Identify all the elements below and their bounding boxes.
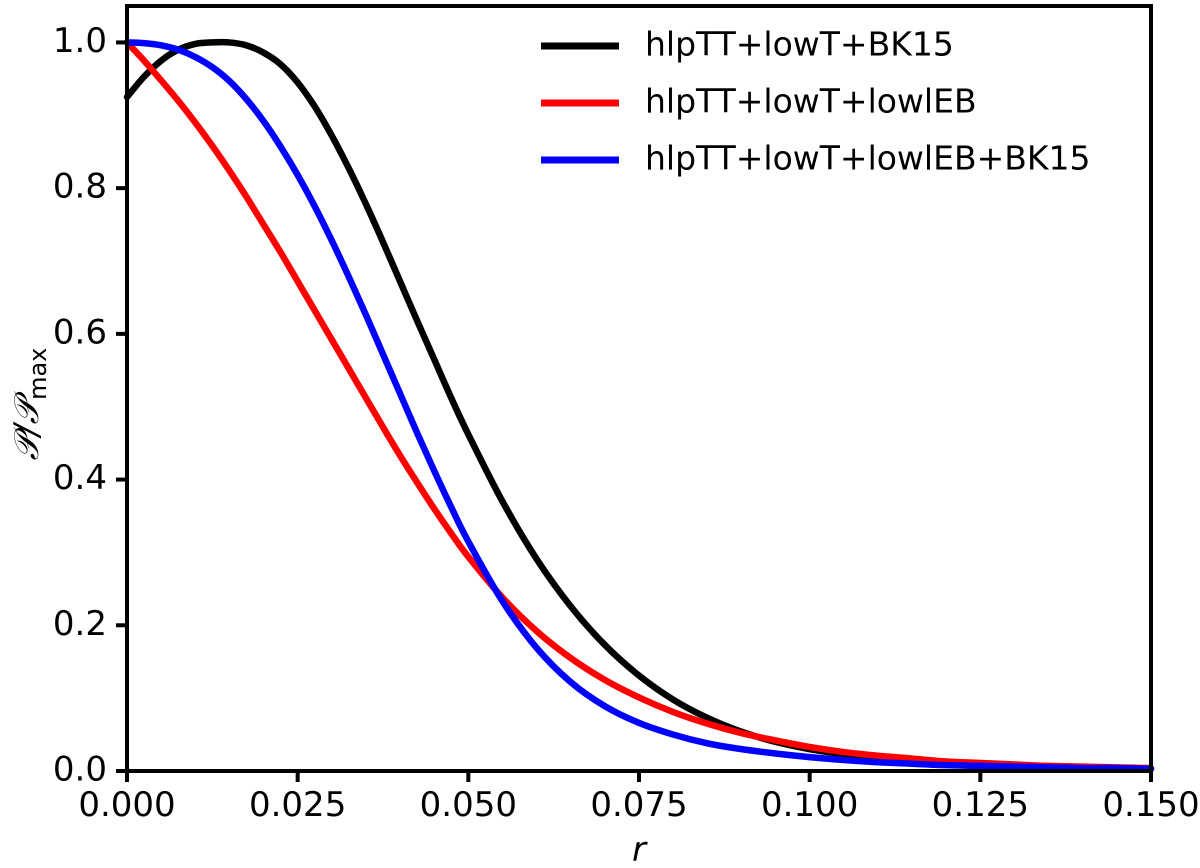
x-tick-label-0: 0.000 <box>78 785 175 825</box>
x-axis-title: r <box>632 830 648 868</box>
x-axis-tick-labels: 0.0000.0250.0500.0750.1000.1250.150 <box>78 785 1199 825</box>
y-axis-title: 𝒫/𝒫max <box>7 348 52 461</box>
x-tick-label-4: 0.100 <box>761 785 858 825</box>
x-tick-label-2: 0.050 <box>420 785 517 825</box>
chart-plot: 0.0000.0250.0500.0750.1000.1250.150 0.00… <box>0 0 1200 868</box>
x-tick-label-1: 0.025 <box>249 785 346 825</box>
y-tick-label-2: 0.4 <box>53 458 107 498</box>
y-tick-label-0: 0.0 <box>53 750 107 790</box>
x-tick-label-5: 0.125 <box>932 785 1029 825</box>
y-tick-label-4: 0.8 <box>53 167 107 207</box>
y-tick-label-1: 0.2 <box>53 604 107 644</box>
y-tick-label-3: 0.6 <box>53 312 107 352</box>
legend-label-0: hlpTT+lowT+BK15 <box>645 25 954 64</box>
y-axis-title-main: 𝒫/𝒫 <box>7 390 47 460</box>
y-axis-title-text: 𝒫/𝒫max <box>7 348 52 461</box>
x-tick-label-6: 0.150 <box>1102 785 1199 825</box>
y-tick-label-5: 1.0 <box>53 21 107 61</box>
plot-background <box>127 6 1151 771</box>
legend-label-2: hlpTT+lowT+lowlEB+BK15 <box>645 139 1091 178</box>
y-axis-title-subscript: max <box>24 348 52 400</box>
x-tick-label-3: 0.075 <box>590 785 687 825</box>
legend-label-1: hlpTT+lowT+lowlEB <box>645 82 977 121</box>
y-axis-tick-labels: 0.00.20.40.60.81.0 <box>53 21 107 790</box>
figure-canvas: 0.0000.0250.0500.0750.1000.1250.150 0.00… <box>0 0 1200 868</box>
